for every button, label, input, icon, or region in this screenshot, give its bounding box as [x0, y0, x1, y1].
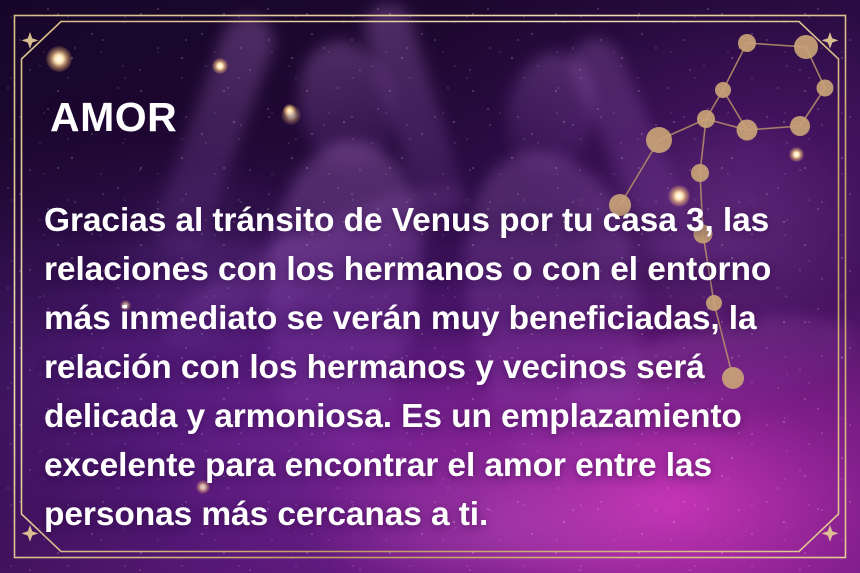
page-title: AMOR	[50, 94, 177, 141]
horoscope-card: AMOR Gracias al tránsito de Venus por tu…	[0, 0, 860, 573]
card-content: AMOR Gracias al tránsito de Venus por tu…	[44, 0, 804, 573]
horoscope-body-text: Gracias al tránsito de Venus por tu casa…	[44, 196, 800, 539]
